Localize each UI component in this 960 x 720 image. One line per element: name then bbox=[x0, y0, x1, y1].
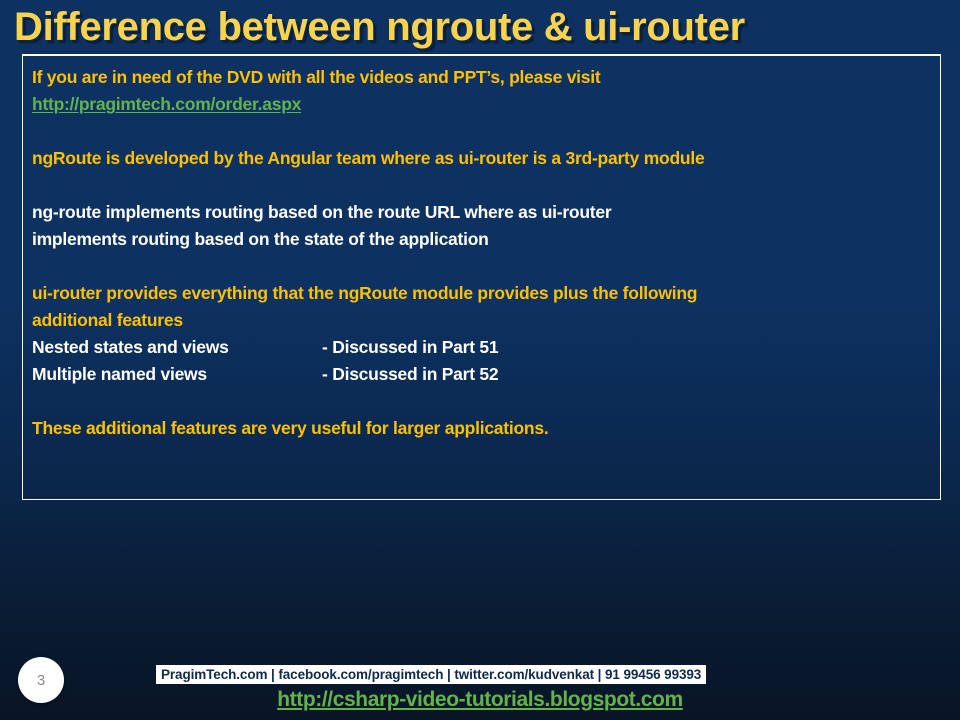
feature-row: Nested states and views - Discussed in P… bbox=[32, 334, 940, 361]
footer-blog-link[interactable]: http://csharp-video-tutorials.blogspot.c… bbox=[0, 688, 960, 712]
feature-name: Multiple named views bbox=[32, 361, 322, 388]
spacer-1 bbox=[32, 118, 940, 145]
uirouter-statement-line-2: additional features bbox=[32, 307, 940, 334]
spacer-4 bbox=[32, 388, 940, 415]
uirouter-statement-line-1: ui-router provides everything that the n… bbox=[32, 280, 940, 307]
closing-statement: These additional features are very usefu… bbox=[32, 415, 940, 442]
order-link[interactable]: http://pragimtech.com/order.aspx bbox=[32, 94, 301, 114]
spacer-3 bbox=[32, 253, 940, 280]
content-box: If you are in need of the DVD with all t… bbox=[22, 55, 941, 500]
feature-reference: - Discussed in Part 52 bbox=[322, 361, 498, 388]
page-title: Difference between ngroute & ui-router bbox=[14, 2, 946, 52]
feature-name: Nested states and views bbox=[32, 334, 322, 361]
ngroute-statement: ngRoute is developed by the Angular team… bbox=[32, 145, 940, 172]
routing-statement-line-1: ng-route implements routing based on the… bbox=[32, 199, 940, 226]
footer-credits: PragimTech.com | facebook.com/pragimtech… bbox=[156, 665, 706, 684]
dvd-notice-text: If you are in need of the DVD with all t… bbox=[32, 64, 940, 91]
feature-reference: - Discussed in Part 51 bbox=[322, 334, 498, 361]
routing-statement-line-2: implements routing based on the state of… bbox=[32, 226, 940, 253]
feature-row: Multiple named views - Discussed in Part… bbox=[32, 361, 940, 388]
slide-canvas: Difference between ngroute & ui-router I… bbox=[0, 0, 960, 720]
title-bar: Difference between ngroute & ui-router bbox=[0, 0, 960, 56]
order-link-row: http://pragimtech.com/order.aspx bbox=[32, 91, 940, 118]
spacer-2 bbox=[32, 172, 940, 199]
